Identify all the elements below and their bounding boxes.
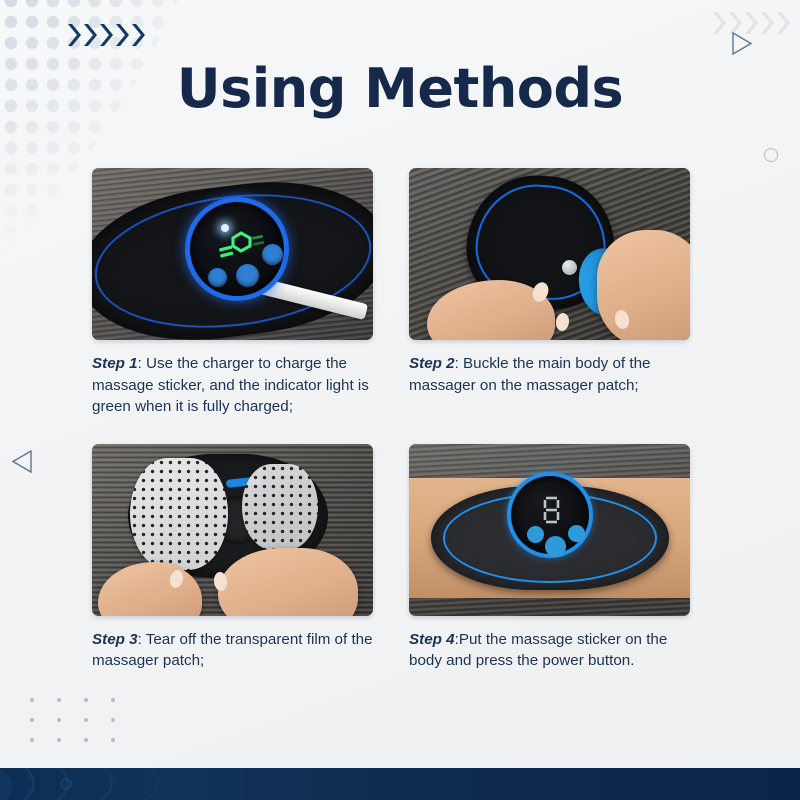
step-card-3: Step 3: Tear off the transparent film of… xyxy=(92,444,373,672)
step-3-label: Step 3 xyxy=(92,631,138,648)
snap-button xyxy=(562,260,577,275)
chevron-group-right xyxy=(711,10,790,36)
control-button xyxy=(568,525,585,542)
step-3-separator: : xyxy=(138,631,146,648)
chevron-right-icon xyxy=(775,10,790,36)
control-button xyxy=(527,526,544,543)
step-1-photo xyxy=(92,168,373,340)
chevron-right-icon xyxy=(727,10,742,36)
steps-grid: Step 1: Use the charger to charge the ma… xyxy=(92,168,690,672)
control-button xyxy=(208,268,227,287)
footer-texture xyxy=(0,768,290,800)
step-1-separator: : xyxy=(138,355,146,372)
step-2-label: Step 2 xyxy=(409,355,455,372)
footer-band xyxy=(0,768,800,800)
chevron-right-icon xyxy=(743,10,758,36)
led-display xyxy=(541,494,563,524)
chevron-right-icon xyxy=(114,22,129,48)
circle-outline-decoration xyxy=(764,148,778,162)
step-4-photo xyxy=(409,444,690,616)
transparent-film-right xyxy=(242,464,318,550)
chevron-right-icon xyxy=(711,10,726,36)
transparent-film-left xyxy=(130,458,228,570)
power-button xyxy=(545,536,566,557)
step-2-photo xyxy=(409,168,690,340)
green-led-display xyxy=(219,231,267,261)
chevron-right-icon xyxy=(98,22,113,48)
massager-main-body xyxy=(507,472,593,558)
step-3-photo xyxy=(92,444,373,616)
right-hand xyxy=(597,230,690,340)
step-4-label: Step 4 xyxy=(409,631,455,648)
massager-main-body xyxy=(185,197,289,301)
chevron-group-left xyxy=(66,22,145,48)
step-card-1: Step 1: Use the charger to charge the ma… xyxy=(92,168,373,418)
step-3-caption: Step 3: Tear off the transparent film of… xyxy=(92,629,373,672)
chevron-right-icon xyxy=(66,22,81,48)
back-triangle-outline-icon xyxy=(10,448,36,474)
chevron-right-icon xyxy=(130,22,145,48)
step-2-caption: Step 2: Buckle the main body of the mass… xyxy=(409,353,690,396)
step-1-label: Step 1 xyxy=(92,355,138,372)
play-triangle-outline-icon xyxy=(728,30,754,56)
step-2-separator: : xyxy=(455,355,463,372)
control-button xyxy=(236,264,259,287)
step-4-caption: Step 4:Put the massage sticker on the bo… xyxy=(409,629,690,672)
poster-canvas: Using Methods xyxy=(0,0,800,800)
chevron-right-icon xyxy=(759,10,774,36)
page-title: Using Methods xyxy=(0,57,800,120)
step-card-2: Step 2: Buckle the main body of the mass… xyxy=(409,168,690,418)
step-card-4: Step 4:Put the massage sticker on the bo… xyxy=(409,444,690,672)
chevron-right-icon xyxy=(82,22,97,48)
step-1-caption: Step 1: Use the charger to charge the ma… xyxy=(92,353,373,418)
dot-grid-decoration xyxy=(30,698,138,758)
control-button xyxy=(262,244,283,265)
